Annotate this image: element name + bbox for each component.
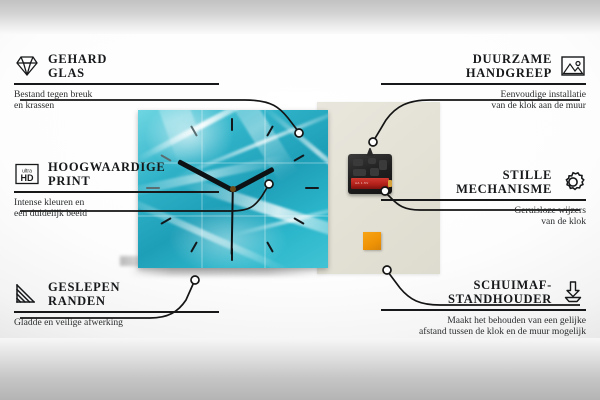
feature-header: GEHARD GLAS [14,52,219,80]
feature-description: Geruisloze wijzers van de klok [381,205,586,228]
picture-frame-icon [560,54,586,78]
feature-divider [14,311,219,313]
feature-title: GESLEPEN RANDEN [48,280,120,308]
feature-duurzame-handgreep[interactable]: DUURZAME HANDGREEP Eenvoudige installati… [381,52,586,111]
infographic-stage: AA 1.5V [0,0,600,400]
feature-description: Maakt het behouden van een gelijke afsta… [381,315,586,338]
feature-divider [381,309,586,311]
feature-description: Gladde en veilige afwerking [14,317,219,328]
down-arrow-pad-icon [560,280,586,304]
feature-header: GESLEPEN RANDEN [14,280,219,308]
foam-spacer-pad [363,232,381,250]
feature-header: ultra HD HOOGWAARDIGE PRINT [14,160,219,188]
ultra-hd-icon: ultra HD [14,162,40,186]
feature-description: Bestand tegen breuk en krassen [14,89,219,112]
svg-text:HD: HD [21,173,34,183]
feature-divider [14,83,219,85]
feature-divider [14,191,219,193]
feature-header: DUURZAME HANDGREEP [381,52,586,80]
feature-schuimafstandhouder[interactable]: SCHUIMAF- STANDHOUDER Maakt het behouden… [381,278,586,337]
feature-title: SCHUIMAF- STANDHOUDER [448,278,552,306]
feature-stille-mechanisme[interactable]: STILLE MECHANISME Geruisloze wijzers van… [381,168,586,227]
clock-hand-hub [230,186,236,192]
feature-header: STILLE MECHANISME [381,168,586,196]
feature-title: STILLE MECHANISME [456,168,552,196]
feature-title: DUURZAME HANDGREEP [466,52,552,80]
feature-divider [381,199,586,201]
feature-title: HOOGWAARDIGE PRINT [48,160,165,188]
background-band-top [0,0,600,34]
feature-hoogwaardige-print[interactable]: ultra HD HOOGWAARDIGE PRINT Intense kleu… [14,160,219,219]
feature-description: Intense kleuren en een duidelijk beeld [14,197,219,220]
feature-divider [381,83,586,85]
feature-header: SCHUIMAF- STANDHOUDER [381,278,586,306]
feature-title: GEHARD GLAS [48,52,107,80]
background-band-bottom [0,338,600,400]
feature-geslepen-randen[interactable]: GESLEPEN RANDEN Gladde en veilige afwerk… [14,280,219,328]
gear-icon [560,170,586,194]
feature-gehard-glas[interactable]: GEHARD GLAS Bestand tegen breuk en krass… [14,52,219,111]
beveled-edge-icon [14,282,40,306]
feature-description: Eenvoudige installatie van de klok aan d… [381,89,586,112]
diamond-icon [14,54,40,78]
